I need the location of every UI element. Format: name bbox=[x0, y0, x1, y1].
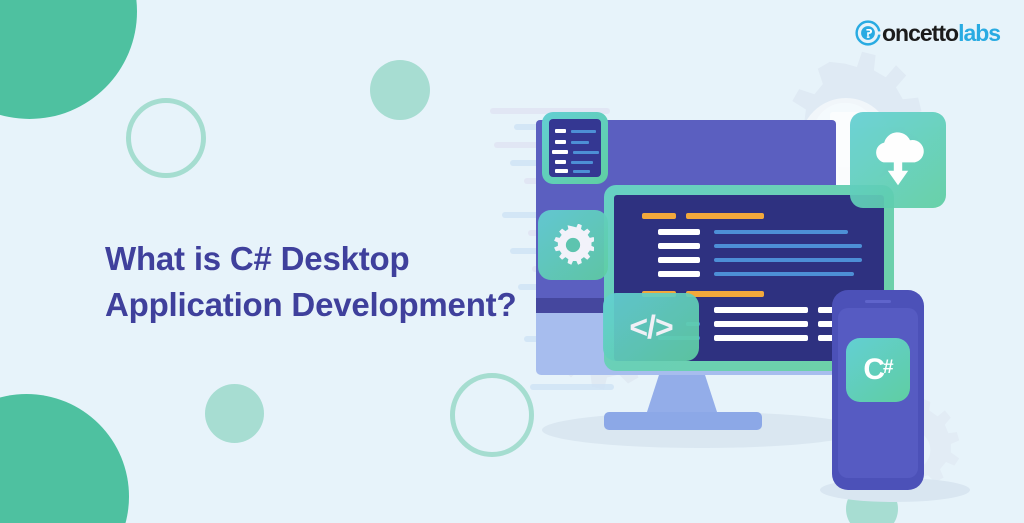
illustration: </> C# bbox=[480, 60, 1024, 490]
gear-icon bbox=[552, 224, 594, 266]
code-token-bar bbox=[658, 229, 700, 235]
cloud-card[interactable] bbox=[850, 112, 946, 208]
code-token-bar bbox=[658, 243, 700, 249]
gear-card[interactable] bbox=[538, 210, 608, 280]
decorative-ring-top-left bbox=[126, 98, 206, 178]
code-accent-bar bbox=[686, 291, 764, 297]
list-card[interactable] bbox=[542, 112, 608, 184]
brand-logo[interactable]: oncettolabs bbox=[855, 18, 1000, 48]
code-token-bar bbox=[714, 321, 808, 327]
code-line-bar bbox=[714, 244, 862, 248]
smartphone-speaker bbox=[865, 300, 891, 303]
logo-word-blue: labs bbox=[958, 20, 1000, 46]
concetto-circle-mark-icon bbox=[855, 20, 881, 46]
page-title-line-2: Application Development? bbox=[105, 282, 525, 328]
code-line-bar bbox=[714, 258, 862, 262]
decorative-circle-bottom-left bbox=[0, 394, 129, 523]
cloud-download-icon bbox=[868, 131, 928, 189]
code-line-bar bbox=[714, 272, 854, 276]
code-accent-bar bbox=[642, 213, 676, 219]
code-brackets-icon: </> bbox=[629, 309, 672, 346]
logo-word-dark: oncetto bbox=[882, 20, 958, 46]
code-line-bar bbox=[714, 230, 848, 234]
list-lines-icon bbox=[549, 119, 601, 177]
code-token-bar bbox=[714, 307, 808, 313]
code-card[interactable]: </> bbox=[603, 293, 699, 361]
page-title-line-1: What is C# Desktop bbox=[105, 236, 525, 282]
decorative-circle-top-middle bbox=[370, 60, 430, 120]
csharp-letter: C bbox=[863, 353, 883, 386]
csharp-logo-icon: C# bbox=[863, 355, 892, 385]
monitor-stand-base bbox=[604, 412, 762, 430]
code-accent-bar bbox=[686, 213, 764, 219]
page-title: What is C# Desktop Application Developme… bbox=[105, 236, 525, 328]
csharp-hash: # bbox=[883, 357, 893, 378]
decorative-circle-bottom-left-small bbox=[205, 384, 264, 443]
code-token-bar bbox=[658, 257, 700, 263]
banner-root: What is C# Desktop Application Developme… bbox=[0, 0, 1024, 523]
code-token-bar bbox=[714, 335, 808, 341]
code-token-bar bbox=[658, 271, 700, 277]
decorative-circle-top-left bbox=[0, 0, 137, 119]
csharp-card[interactable]: C# bbox=[846, 338, 910, 402]
